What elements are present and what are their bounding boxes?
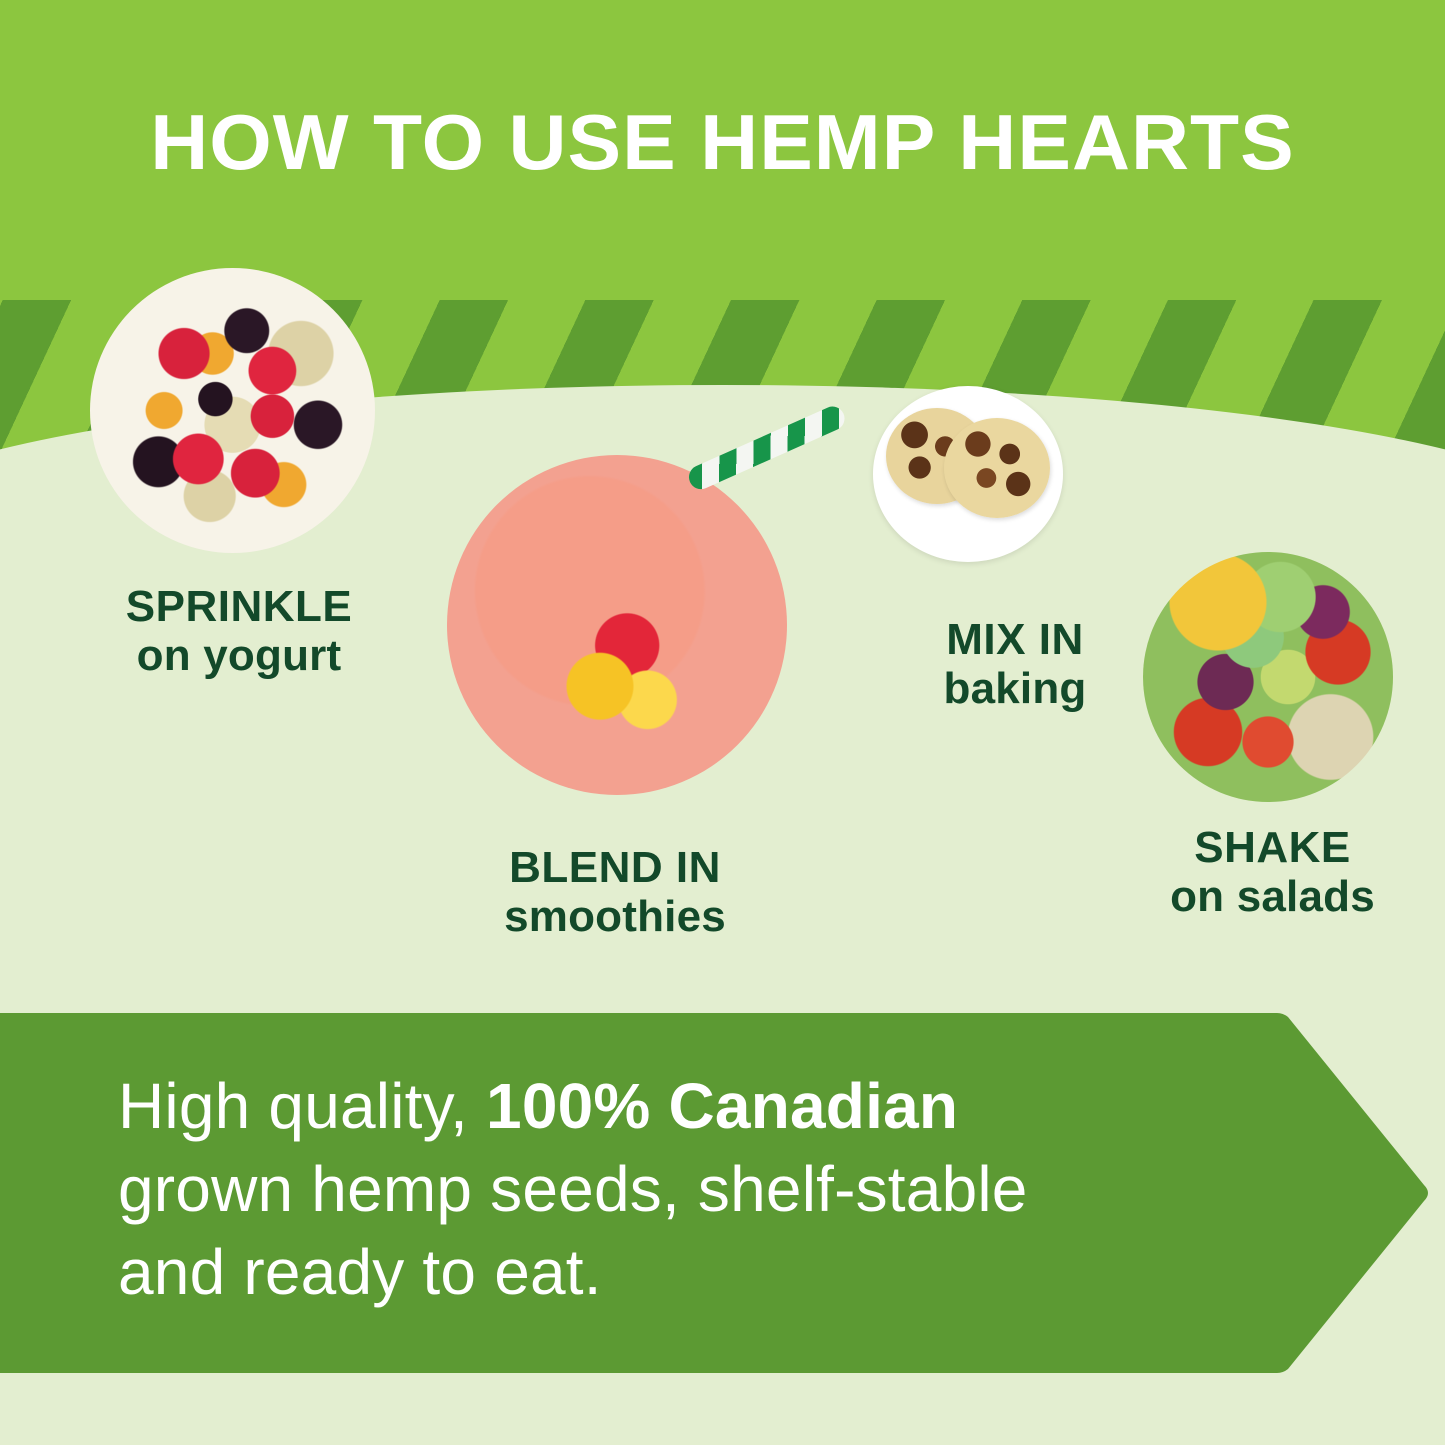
step-action-sprinkle: SPRINKLE [44, 582, 434, 631]
step-action-mix: MIX IN [850, 615, 1180, 664]
step-label-sprinkle: SPRINKLE on yogurt [44, 582, 434, 681]
step-detail-shake: on salads [1105, 872, 1440, 921]
bottom-arrow-banner: High quality, 100% Canadian grown hemp s… [0, 1013, 1445, 1373]
step-label-blend: BLEND IN smoothies [420, 843, 810, 942]
infographic-canvas: HOW TO USE HEMP HEARTS SPRINKLE on yogur… [0, 0, 1445, 1445]
step-action-blend: BLEND IN [420, 843, 810, 892]
salad-bowl-image [1143, 552, 1393, 802]
step-label-shake: SHAKE on salads [1105, 823, 1440, 922]
banner-line1-lead: High quality, [118, 1070, 486, 1142]
banner-line3: and ready to eat. [118, 1236, 602, 1308]
step-detail-mix: baking [850, 664, 1180, 713]
step-detail-sprinkle: on yogurt [44, 631, 434, 680]
yogurt-bowl-image [90, 268, 375, 553]
banner-line2: grown hemp seeds, shelf-stable [118, 1153, 1028, 1225]
smoothie-bowl-image [447, 455, 787, 795]
banner-text: High quality, 100% Canadian grown hemp s… [118, 1065, 1208, 1315]
banner-line1-bold: 100% Canadian [486, 1070, 958, 1142]
step-action-shake: SHAKE [1105, 823, 1440, 872]
step-label-mix: MIX IN baking [850, 615, 1180, 714]
cookie-right [944, 418, 1050, 518]
page-title: HOW TO USE HEMP HEARTS [0, 103, 1445, 181]
step-detail-blend: smoothies [420, 892, 810, 941]
